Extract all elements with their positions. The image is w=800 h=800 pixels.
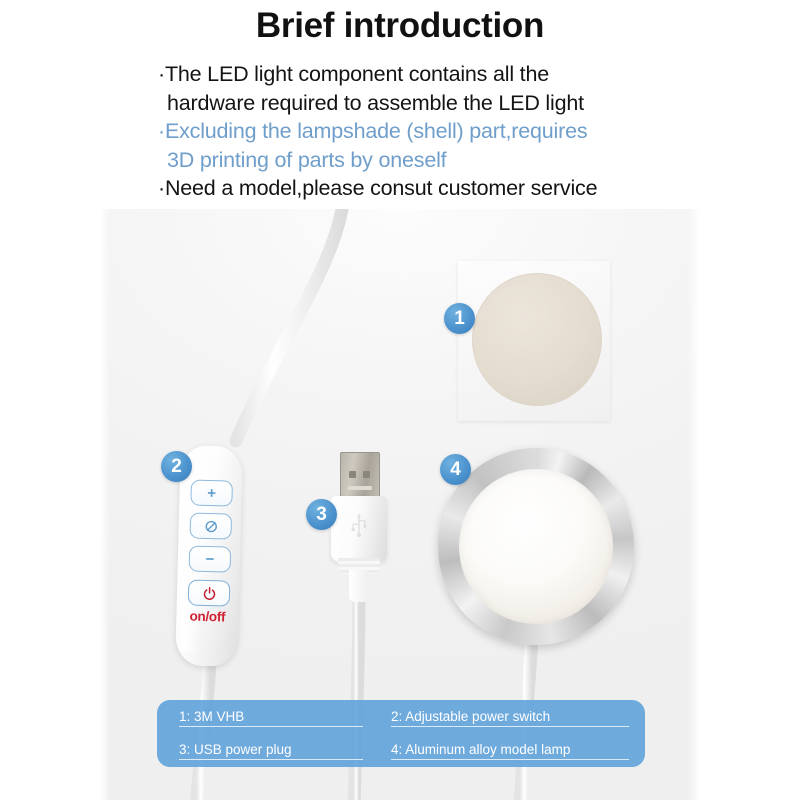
cycle-icon <box>203 518 218 533</box>
brightness-down-button[interactable]: − <box>189 545 232 572</box>
on-off-label: on/off <box>176 608 238 625</box>
badge-2: 2 <box>161 451 192 482</box>
plus-icon: + <box>207 485 216 500</box>
usb-trident-icon <box>349 512 369 538</box>
lamp-diffuser <box>459 469 613 624</box>
power-button[interactable] <box>188 579 231 606</box>
page-title: Brief introduction <box>0 6 800 46</box>
usb-contact-hole <box>363 471 370 478</box>
badge-1: 1 <box>444 303 475 334</box>
3m-vhb-pad <box>458 261 610 421</box>
vhb-adhesive-disc <box>472 273 602 406</box>
legend-item-3: 3: USB power plug <box>179 742 363 760</box>
legend-item-2: 2: Adjustable power switch <box>391 709 629 727</box>
legend-item-1: 1: 3M VHB <box>179 709 363 727</box>
panel-edge-left <box>100 209 110 800</box>
badge-3: 3 <box>306 499 337 530</box>
minus-icon: − <box>205 551 214 566</box>
panel-edge-right <box>688 209 700 800</box>
parts-legend: 1: 3M VHB 2: Adjustable power switch 3: … <box>157 700 645 767</box>
power-icon <box>201 585 216 600</box>
mode-cycle-button[interactable] <box>189 512 232 539</box>
badge-4: 4 <box>440 454 471 485</box>
intro-bullet-1: ·The LED light component contains all th… <box>158 60 678 117</box>
usb-power-plug <box>331 452 387 602</box>
usb-contact-slot <box>348 486 372 490</box>
product-infographic: Brief introduction ·The LED light compon… <box>0 0 800 800</box>
usb-contact-hole <box>349 471 356 478</box>
legend-item-4: 4: Aluminum alloy model lamp <box>391 742 629 760</box>
brightness-up-button[interactable]: + <box>190 480 233 507</box>
usb-connector-shell <box>340 452 380 501</box>
usb-cable-neck <box>349 570 369 602</box>
intro-bullet-3: ·Need a model,please consut customer ser… <box>158 174 678 203</box>
intro-bullet-2: ·Excluding the lampshade (shell) part,re… <box>158 117 678 174</box>
intro-bullet-list: ·The LED light component contains all th… <box>158 60 678 203</box>
